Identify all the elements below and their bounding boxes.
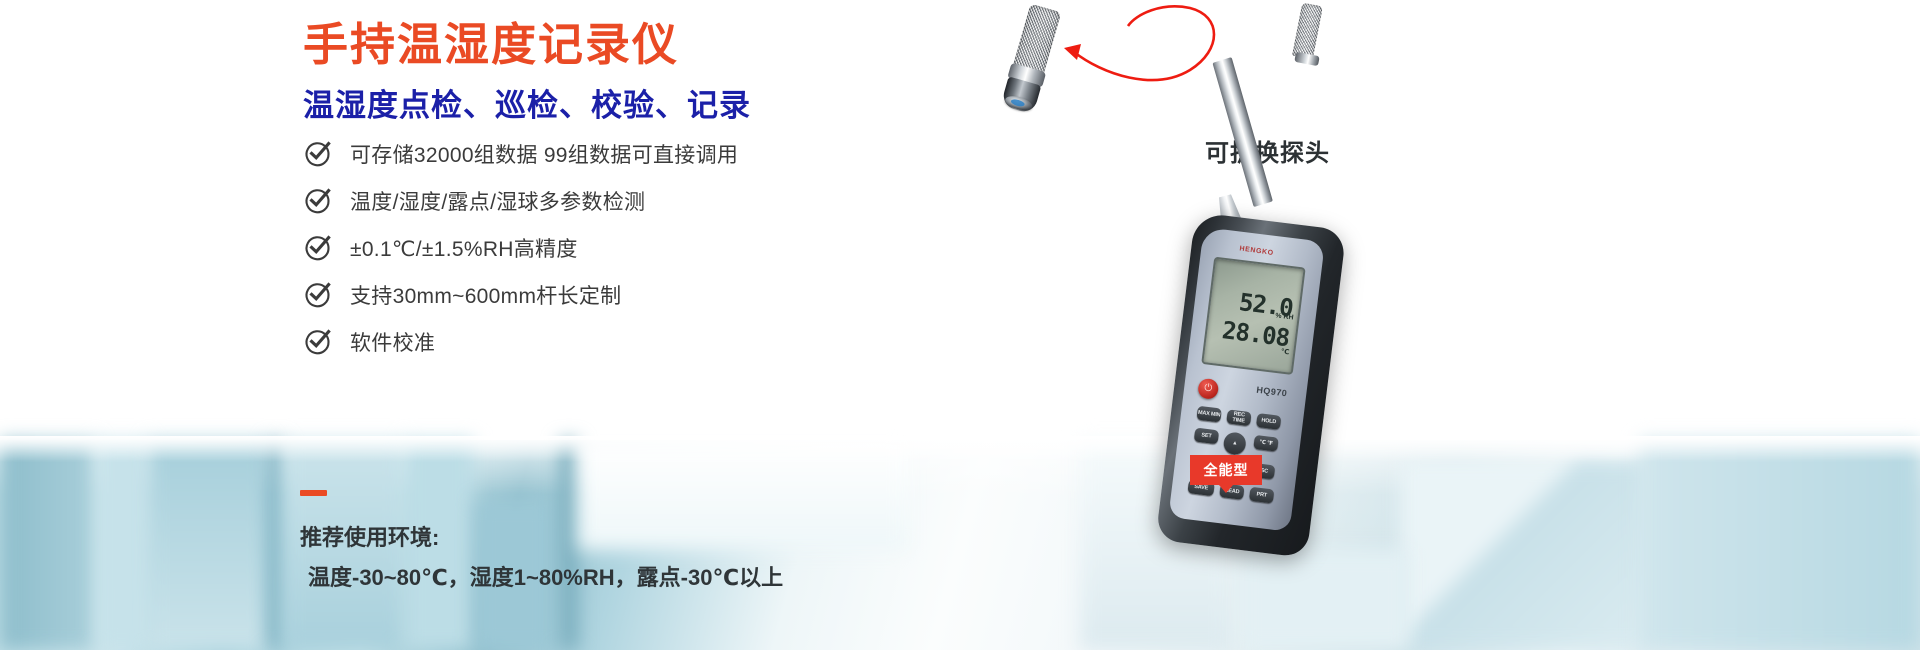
list-item: ±0.1℃/±1.5%RH高精度	[303, 224, 1003, 271]
handheld-meter: HENGKO 52.0 % RH 28.08 ℃ ⏻ HQ970 MAX MIN…	[1115, 0, 1445, 550]
list-item: 可存储32000组数据 99组数据可直接调用	[303, 130, 1003, 177]
meter-probe-mesh	[1292, 2, 1323, 59]
note-accent-dash	[300, 490, 327, 496]
background-photo-band	[0, 440, 1920, 650]
page-title: 手持温湿度记录仪	[303, 8, 679, 73]
bg-shape	[0, 440, 96, 650]
feature-label: 温度/湿度/露点/湿球多参数检测	[350, 186, 645, 216]
meter-front-panel: HENGKO 52.0 % RH 28.08 ℃ ⏻ HQ970 MAX MIN…	[1168, 227, 1325, 532]
feature-label: 软件校准	[350, 327, 435, 357]
status-badge: 全能型	[1190, 455, 1262, 485]
check-circle-icon	[303, 233, 333, 263]
key-up[interactable]: ▲	[1222, 431, 1247, 456]
lcd-temperature-value: 28.08	[1221, 316, 1291, 352]
key-set[interactable]: SET	[1194, 428, 1220, 445]
feature-list: 可存储32000组数据 99组数据可直接调用 温度/湿度/露点/湿球多参数检测	[303, 130, 1003, 365]
lcd-temperature-unit: ℃	[1280, 347, 1289, 356]
check-circle-icon	[303, 280, 333, 310]
page-subtitle: 温湿度点检、巡检、校验、记录	[303, 80, 751, 125]
list-item: 支持30mm~600mm杆长定制	[303, 271, 1003, 318]
model-label: HQ970	[1256, 385, 1288, 399]
note-title: 推荐使用环境:	[300, 520, 439, 552]
lcd-display: 52.0 % RH 28.08 ℃	[1201, 257, 1305, 375]
power-button[interactable]: ⏻	[1197, 378, 1219, 400]
list-item: 温度/湿度/露点/湿球多参数检测	[303, 177, 1003, 224]
product-banner: 手持温湿度记录仪 温湿度点检、巡检、校验、记录 可存储32000组数据 99组数…	[0, 0, 1920, 650]
feature-label: 可存储32000组数据 99组数据可直接调用	[350, 139, 738, 169]
bg-shape	[1640, 440, 1920, 650]
list-item: 软件校准	[303, 318, 1003, 365]
check-circle-icon	[303, 139, 333, 169]
bg-shape	[268, 440, 284, 650]
bg-shape	[560, 440, 578, 650]
bg-shape	[1240, 550, 1410, 650]
band-top-fade	[0, 436, 1920, 462]
check-circle-icon	[303, 186, 333, 216]
feature-label: ±0.1℃/±1.5%RH高精度	[350, 233, 578, 263]
key-max-min[interactable]: MAX MIN	[1196, 406, 1222, 423]
brand-logo: HENGKO	[1239, 245, 1274, 257]
note-detail: 温度-30~80℃，湿度1~80%RH，露点-30℃以上	[308, 560, 783, 592]
meter-probe-collar	[1294, 52, 1319, 66]
key-rec-time[interactable]: REC TIME	[1226, 409, 1252, 426]
key-unit[interactable]: ℃ ℉	[1253, 435, 1279, 452]
bg-shape	[96, 440, 148, 650]
feature-label: 支持30mm~600mm杆长定制	[350, 280, 621, 310]
key-hold[interactable]: HOLD	[1256, 413, 1282, 430]
bg-shape	[148, 440, 268, 650]
meter-probe-rod	[1212, 57, 1272, 207]
key-print[interactable]: PRT	[1249, 487, 1275, 504]
check-circle-icon	[303, 327, 333, 357]
meter-housing: HENGKO 52.0 % RH 28.08 ℃ ⏻ HQ970 MAX MIN…	[1155, 212, 1346, 558]
